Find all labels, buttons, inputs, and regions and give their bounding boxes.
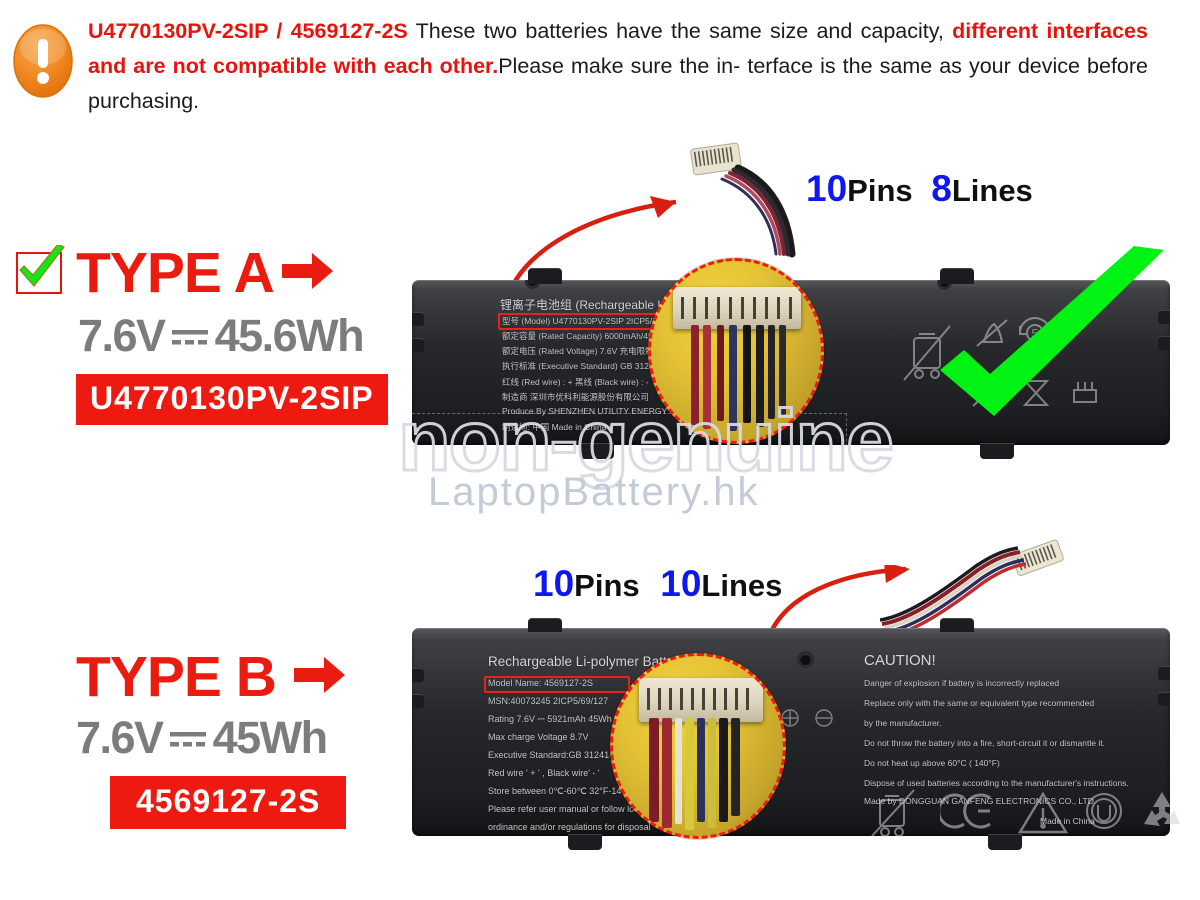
type-b-caution-line: Danger of explosion if battery is incorr… bbox=[864, 678, 1059, 688]
type-a-lines-count: 8 bbox=[931, 168, 952, 209]
mount-ear bbox=[988, 834, 1022, 850]
side-tab bbox=[412, 694, 424, 708]
type-b-label-line: Max charge Voltage 8.7V bbox=[488, 732, 589, 742]
notice-body-2: Please make sure the in- bbox=[498, 54, 740, 78]
arrow-right-icon bbox=[294, 655, 346, 700]
exclamation-circle-icon bbox=[12, 18, 74, 100]
type-b-label-line: Red wire ' + ' , Black wire' - ' bbox=[488, 768, 600, 778]
type-b-caption: TYPE B 7.6V 45Wh 4569127-2S bbox=[76, 650, 346, 829]
type-a-connector-pins bbox=[673, 293, 801, 327]
wire-yellow bbox=[708, 718, 716, 828]
type-b-lines-count: 10 bbox=[660, 563, 701, 604]
type-b-pins-word: Pins bbox=[574, 568, 639, 603]
dc-current-icon bbox=[171, 310, 209, 362]
battery-comparison-page: U4770130PV-2SIP / 4569127-2S These two b… bbox=[0, 0, 1200, 900]
side-tab bbox=[412, 668, 424, 682]
ul-mark-icon bbox=[1082, 788, 1126, 834]
side-tab bbox=[412, 338, 424, 352]
type-a-lines-word: Lines bbox=[952, 173, 1033, 208]
type-b-pins-count: 10 bbox=[533, 563, 574, 604]
dc-current-icon bbox=[169, 712, 207, 764]
type-a-label-line: 额定容量 (Rated Capacity) 6000mAh/45.6Wh bbox=[502, 330, 673, 342]
wire-white bbox=[675, 718, 682, 824]
notice-text: U4770130PV-2SIP / 4569127-2S These two b… bbox=[88, 14, 1148, 119]
mount-ear bbox=[528, 618, 562, 632]
side-tab bbox=[1158, 692, 1170, 706]
type-b-label-line: Rating 7.6V ⎓ 5921mAh 45Wh bbox=[488, 714, 612, 725]
type-a-label-line: 红线 (Red wire) : + 黑线 (Black wire) : - bbox=[502, 376, 649, 388]
wire-blue bbox=[697, 718, 705, 822]
type-a-model-chip: U4770130PV-2SIP bbox=[76, 374, 388, 425]
wire-darkred bbox=[649, 718, 659, 822]
type-b-label-line: ordinance and/or regulations for disposa… bbox=[488, 822, 651, 832]
type-a-spec: 7.6V 45.6Wh bbox=[78, 310, 388, 362]
type-b-connector-magnifier bbox=[610, 653, 786, 839]
type-b-caution-line: Replace only with the same or equivalent… bbox=[864, 698, 1094, 708]
wire-yellow bbox=[685, 718, 694, 830]
type-b-caution-line: Do not throw the battery into a fire, sh… bbox=[864, 738, 1105, 748]
type-b-label-line: Model Name: 4569127-2S bbox=[488, 678, 593, 688]
type-a-title: TYPE A bbox=[76, 246, 274, 300]
type-b-pins-lines-label: 10Pins 10Lines bbox=[533, 563, 782, 605]
type-b-spec: 7.6V 45Wh bbox=[76, 712, 346, 764]
crossed-wheelie-bin-icon bbox=[868, 786, 920, 842]
mount-ear bbox=[568, 834, 602, 850]
type-a-voltage: 7.6V bbox=[78, 310, 165, 362]
wire-black bbox=[731, 718, 740, 816]
side-tab bbox=[1158, 666, 1170, 680]
type-b-label-line: MSN:40073245 2ICP5/69/127 bbox=[488, 696, 608, 706]
recycle-icon bbox=[1140, 788, 1184, 834]
watermark-site: LaptopBattery.hk bbox=[428, 470, 759, 515]
notice-body-1: These two batteries have the same size a… bbox=[416, 19, 944, 43]
type-a-capacity: 45.6Wh bbox=[215, 310, 364, 362]
type-b-caution-line: by the manufacturer. bbox=[864, 718, 942, 728]
type-b-voltage: 7.6V bbox=[76, 712, 163, 764]
wire-red bbox=[662, 718, 672, 828]
arrow-right-icon bbox=[282, 251, 334, 296]
notice-models: U4770130PV-2SIP / 4569127-2S bbox=[88, 19, 408, 43]
type-b-model-chip: 4569127-2S bbox=[110, 776, 346, 829]
warning-triangle-icon bbox=[1016, 790, 1070, 836]
mount-ear bbox=[980, 443, 1014, 459]
type-a-caption: TYPE A 7.6V 45.6Wh U4770130PV-2SIP bbox=[16, 246, 388, 425]
screw-hole bbox=[800, 654, 811, 665]
side-tab bbox=[412, 312, 424, 326]
type-b-caution-line: Do not heat up above 60°C ( 140°F) bbox=[864, 758, 1000, 768]
type-b-capacity: 45Wh bbox=[213, 712, 327, 764]
type-b-caution-title: CAUTION! bbox=[864, 652, 936, 669]
notice-banner: U4770130PV-2SIP / 4569127-2S These two b… bbox=[0, 0, 1200, 128]
mount-ear bbox=[528, 268, 562, 284]
type-b-connector-pins bbox=[639, 684, 763, 718]
green-check-icon bbox=[928, 246, 1178, 436]
minus-terminal-icon bbox=[814, 708, 834, 728]
type-a-pins-lines-label: 10Pins 8Lines bbox=[806, 168, 1033, 210]
type-b-title: TYPE B bbox=[76, 650, 276, 704]
wire-black bbox=[719, 718, 728, 822]
mount-ear bbox=[940, 618, 974, 632]
type-b-label-line: Store between 0℃-60℃ 32°F-140°F bbox=[488, 786, 636, 797]
type-b-label-line: Please refer user manual or follow local bbox=[488, 804, 646, 814]
ce-mark-icon bbox=[940, 790, 998, 834]
type-a-pins-word: Pins bbox=[847, 173, 912, 208]
type-a-checkbox[interactable] bbox=[16, 252, 62, 294]
